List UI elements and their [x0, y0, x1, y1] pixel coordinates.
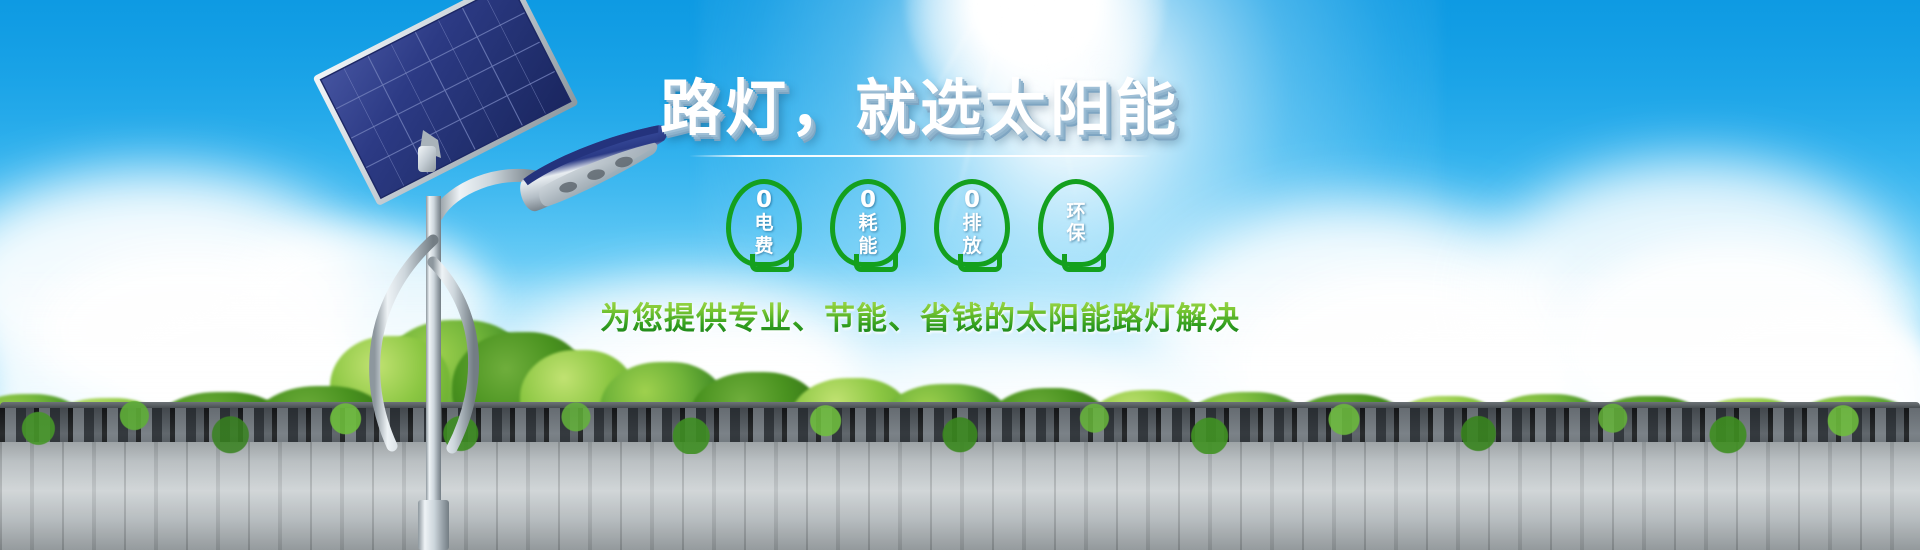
title-divider	[689, 155, 1151, 157]
badge-label-line2: 能	[858, 236, 877, 257]
badge-zero-value: 0	[964, 189, 980, 212]
badge-zero-emission: 0 排 放	[934, 179, 1010, 267]
badge-zero-electricity-cost: 0 电 费	[726, 179, 802, 267]
badge-eco-friendly: 环 保	[1038, 179, 1114, 267]
badge-label-line1: 耗	[858, 213, 877, 234]
page-title: 路灯，就选太阳能	[600, 78, 1240, 139]
badge-zero-value: 0	[756, 189, 772, 212]
badge-label-line2: 费	[754, 236, 773, 257]
solar-street-light-banner: 路灯，就选太阳能 0 电 费 0 耗 能	[0, 0, 1920, 550]
badge-label-line1: 环	[1066, 202, 1085, 223]
feature-badge-list: 0 电 费 0 耗 能 0 排 放	[600, 179, 1240, 267]
badge-label-line2: 放	[962, 236, 981, 257]
stone-wall	[0, 442, 1920, 550]
badge-label-line2: 保	[1066, 223, 1085, 244]
banner-content: 路灯，就选太阳能 0 电 费 0 耗 能	[600, 78, 1240, 418]
badge-zero-value: 0	[860, 189, 876, 212]
badge-label-line1: 排	[962, 213, 981, 234]
badge-label-line1: 电	[754, 213, 773, 234]
badge-zero-energy-consumption: 0 耗 能	[830, 179, 906, 267]
banner-tagline: 为您提供专业、节能、省钱的太阳能路灯解决方案！	[600, 293, 1240, 338]
